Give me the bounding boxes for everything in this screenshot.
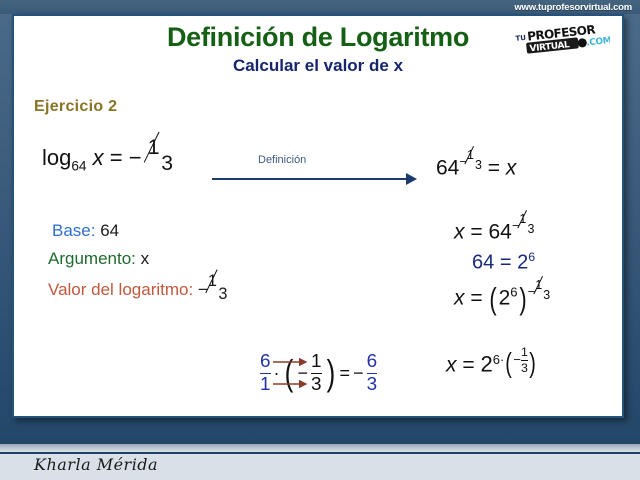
property-valor-label: Valor del logaritmo: [48,280,193,299]
step3-inner-exp: 6 [510,284,517,299]
property-base: Base: 64 [52,221,119,241]
svg-text:TU: TU [515,34,527,43]
step-1-equation: x = 64−13 [454,216,534,244]
fd-result-num: 6 [367,352,378,371]
property-base-value: 64 [100,221,119,240]
step4-exp-fraction: 13 [521,346,528,374]
step3-exp-den: 3 [543,288,550,302]
def-exp-fraction: 13 [467,152,482,170]
tuprofesorvirtual-logo: TU PROFESOR VIRTUAL .COM [514,22,610,60]
step3-paren-open: ( [490,282,497,317]
step4-two: 2 [480,352,492,377]
def-exp-den: 3 [475,158,482,172]
step4-exp-dot: · [500,352,504,367]
property-valor-logaritmo: Valor del logaritmo: −13 [48,277,227,300]
step4-exp-num: 1 [521,346,528,359]
log-argument: x [93,145,104,170]
step3-x: x [454,286,465,309]
top-url-bar: www.tuprofesorvirtual.com [0,0,640,14]
step-4-equation: x = 26·(−13) [446,346,537,379]
property-base-label: Base: [52,221,95,240]
slide-root: www.tuprofesorvirtual.com Definición de … [0,0,640,480]
fd-result-fraction: 6 3 [367,352,378,394]
step4-exponent: 6·(−13) [493,352,537,367]
step3-outer-exponent: −13 [528,284,551,299]
step3-equals: = [470,286,482,309]
content-card: Definición de Logaritmo Calcular el valo… [12,14,624,418]
fraction-multiplication-diagram: 6 1 · ( − 1 3 ) = − 6 3 [260,352,377,394]
step1-exponent: −13 [512,218,535,233]
fd-result-minus: − [353,363,364,384]
step1-base: 64 [488,220,511,243]
log-base: 64 [71,158,86,173]
fd-left-fraction: 6 1 [260,352,271,394]
arrow-label: Definición [258,154,306,166]
svg-text:.COM: .COM [586,36,610,49]
step-2-equation: 64 = 26 [472,250,535,275]
fd-right-fraction: 1 3 [311,352,322,394]
arrow-head-icon [406,173,417,185]
log-text: log [42,145,71,170]
minus-sign: − [129,145,142,170]
step-3-equation: x = (26)−13 [454,282,550,317]
property-valor-den: 3 [218,285,227,304]
fd-left-num: 6 [260,352,271,371]
def-result: x [506,156,517,179]
step1-x: x [454,220,465,243]
def-exponent: −13 [459,154,482,169]
fd-result-den: 3 [367,375,378,394]
definition-arrow: Definición [212,156,422,190]
definition-equation: 64−13 = x [436,152,516,180]
exercise-label: Ejercicio 2 [34,98,117,116]
fd-right-num: 1 [311,352,322,371]
fraction-denominator: 3 [161,152,173,176]
property-argumento-value: x [141,249,150,268]
step2-left: 64 [472,252,494,274]
fd-right-den: 3 [311,375,322,394]
step1-equals: = [470,220,482,243]
equals-sign: = [110,145,123,170]
fraction-one-third: 1 3 [148,142,173,172]
fd-paren-close: ) [326,352,335,394]
step1-exp-den: 3 [527,222,534,236]
step2-exponent: 6 [528,250,535,264]
def-equals: = [488,156,500,179]
property-argumento: Argumento: x [48,249,149,269]
step3-paren-close: ) [519,282,526,317]
site-url: www.tuprofesorvirtual.com [514,2,640,13]
step4-x: x [446,354,457,377]
step2-equals: = [500,252,512,274]
step4-paren-close: ) [529,347,536,379]
step4-exp-den: 3 [521,362,528,375]
step3-two: 2 [499,286,511,309]
main-equation: log64 x = − 1 3 [42,142,173,173]
def-base: 64 [436,156,459,179]
fd-dot: · [274,363,280,384]
fd-paren-open: ( [284,352,293,394]
step2-two: 2 [517,252,528,274]
step1-exp-fraction: 13 [519,216,534,234]
step4-exp-six: 6 [493,352,500,367]
step4-exp-minus: − [513,352,521,367]
step4-equals: = [462,354,474,377]
property-argumento-label: Argumento: [48,249,136,268]
step4-paren-open: ( [506,347,513,379]
step3-exp-fraction: 13 [535,282,550,300]
fd-left-den: 1 [260,375,271,394]
arrow-line [212,178,408,180]
fd-equals: = [340,363,351,384]
property-valor-fraction: 13 [208,277,228,300]
author-signature: Kharla Mérida [34,455,158,474]
fd-minus: − [298,363,309,384]
footer-divider [0,444,640,452]
